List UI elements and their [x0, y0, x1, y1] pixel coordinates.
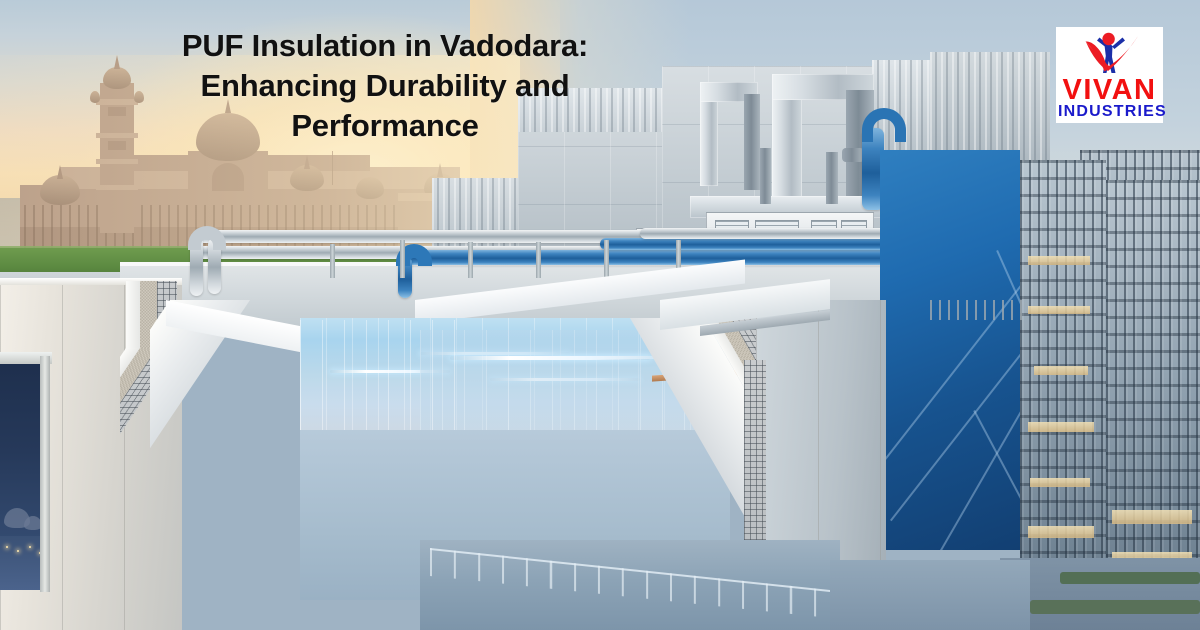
- hvac-riser-1: [760, 148, 771, 204]
- office-tower-lit: [1020, 160, 1106, 560]
- street-level-ground: [1000, 558, 1200, 630]
- vivan-figure-checkmark-icon: [1056, 30, 1163, 76]
- logo-brand-text: VIVAN: [1060, 77, 1159, 103]
- title-line-2: Enhancing Durability and: [130, 66, 640, 106]
- pipe-stand-5: [604, 240, 609, 278]
- logo-subtitle-text: INDUSTRIES: [1058, 103, 1161, 121]
- pipe-stand-4: [536, 242, 541, 278]
- panel-skin-left: [126, 281, 140, 355]
- page-title: PUF Insulation in Vadodara: Enhancing Du…: [130, 26, 640, 146]
- opening-jamb: [40, 356, 50, 592]
- title-line-1: PUF Insulation in Vadodara:: [130, 26, 640, 66]
- lower-floor-slab-right: [830, 560, 1030, 630]
- vivan-industries-logo[interactable]: VIVAN INDUSTRIES: [1056, 27, 1163, 123]
- industrial-block-right: [930, 52, 1050, 162]
- hedge-1: [1060, 572, 1200, 584]
- hvac-duct-1-right: [744, 94, 760, 190]
- office-tower-far-right: [1106, 180, 1200, 560]
- hedge-2: [1030, 600, 1200, 614]
- title-line-3: Performance: [130, 106, 640, 146]
- pipe-stand-2: [400, 240, 405, 278]
- banner-image: PUF Insulation in Vadodara: Enhancing Du…: [0, 0, 1200, 630]
- pipe-stand-1: [330, 244, 335, 278]
- hvac-riser-2: [826, 152, 838, 204]
- hvac-elbow: [842, 148, 864, 162]
- pipe-stand-3: [468, 242, 473, 278]
- roof-guardrail: [930, 300, 1026, 320]
- blue-glass-facade-panel: [880, 150, 1020, 550]
